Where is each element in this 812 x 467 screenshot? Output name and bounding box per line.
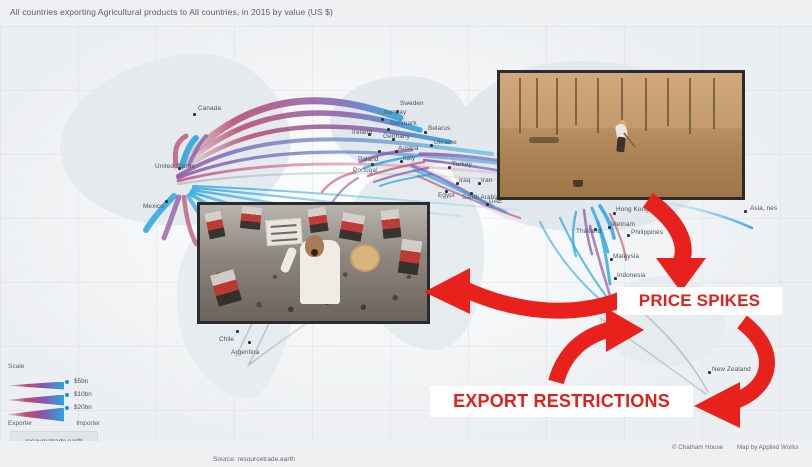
map-legend: Scale $5bn $10bn $20bn Exporter Importer [8,363,104,427]
country-node-dot[interactable] [614,277,617,280]
fallen-log [529,137,559,143]
country-node-dot[interactable] [236,330,239,333]
export-restrictions-annotation: EXPORT RESTRICTIONS [430,386,693,417]
copyright-credit: © Chatham House [672,444,723,451]
country-node-dot[interactable] [392,138,395,141]
country-node-dot[interactable] [448,166,451,169]
screenshot-root: All countries exporting Agricultural pro… [0,0,812,467]
country-node-dot[interactable] [248,341,251,344]
country-node-dot[interactable] [381,118,384,121]
country-node-dot[interactable] [470,192,473,195]
country-node-dot[interactable] [608,226,611,229]
map-credit: Map by Applied Works [737,444,798,451]
legend-value: $10bn [74,391,92,398]
legend-importer-dot [65,393,69,397]
dead-tree-icon [621,78,623,123]
protest-sign [265,218,303,246]
farmer-figure [614,120,630,154]
legend-value: $20bn [74,404,92,411]
country-node-dot[interactable] [424,131,427,134]
flag-icon [397,239,422,275]
legend-exporter-label: Exporter [8,420,32,427]
country-node-dot[interactable] [744,210,747,213]
country-node-dot[interactable] [708,371,711,374]
country-node-dot[interactable] [165,200,168,203]
flag-icon [240,206,262,230]
legend-title: Scale [8,363,104,370]
country-node-dot[interactable] [627,234,630,237]
farmer-legs [616,137,626,153]
header-bar: All countries exporting Agricultural pro… [0,0,812,26]
dead-tree-icon [597,78,599,133]
legend-importer-label: Importer [76,420,100,427]
legend-row: $5bn [8,375,104,388]
country-node-dot[interactable] [193,113,196,116]
legend-importer-dot [65,406,69,410]
source-caption: Source: resourcetrade.earth [213,456,295,463]
flag-icon [380,209,401,239]
legend-importer-dot [65,380,69,384]
legend-row: $10bn [8,388,104,401]
country-node-dot[interactable] [610,258,613,261]
legend-value: $5bn [74,378,88,385]
country-node-dot[interactable] [594,228,597,231]
country-node-dot[interactable] [378,150,381,153]
country-node-dot[interactable] [478,182,481,185]
bucket-icon [573,180,583,187]
country-node-dot[interactable] [368,133,371,136]
legend-endpoints: Exporter Importer [8,420,100,427]
dead-tree-icon [667,78,669,126]
flag-icon [307,207,328,233]
country-node-dot[interactable] [456,182,459,185]
dead-tree-icon [556,78,558,135]
country-node-dot[interactable] [371,163,374,166]
country-node-dot[interactable] [486,203,489,206]
dead-tree-icon [575,78,577,125]
country-node-dot[interactable] [430,144,433,147]
country-node-dot[interactable] [178,167,181,170]
flag-icon [339,213,365,242]
price-spikes-label: PRICE SPIKES [639,291,760,311]
country-node-dot[interactable] [396,110,399,113]
country-node-dot[interactable] [445,190,448,193]
protest-photo [197,202,430,324]
dead-tree-icon [645,78,647,131]
dead-tree-icon [536,78,538,128]
dead-tree-icon [519,78,521,133]
price-spikes-annotation: PRICE SPIKES [617,287,782,315]
export-restrictions-label: EXPORT RESTRICTIONS [453,391,670,412]
dead-tree-icon [689,78,691,134]
country-node-dot[interactable] [613,212,616,215]
protester-mouth [311,249,318,256]
country-node-dot[interactable] [400,160,403,163]
country-node-dot[interactable] [387,128,390,131]
page-title: All countries exporting Agricultural pro… [10,7,333,17]
drought-photo [497,70,745,200]
country-node-dot[interactable] [395,150,398,153]
dead-tree-icon [713,78,715,129]
